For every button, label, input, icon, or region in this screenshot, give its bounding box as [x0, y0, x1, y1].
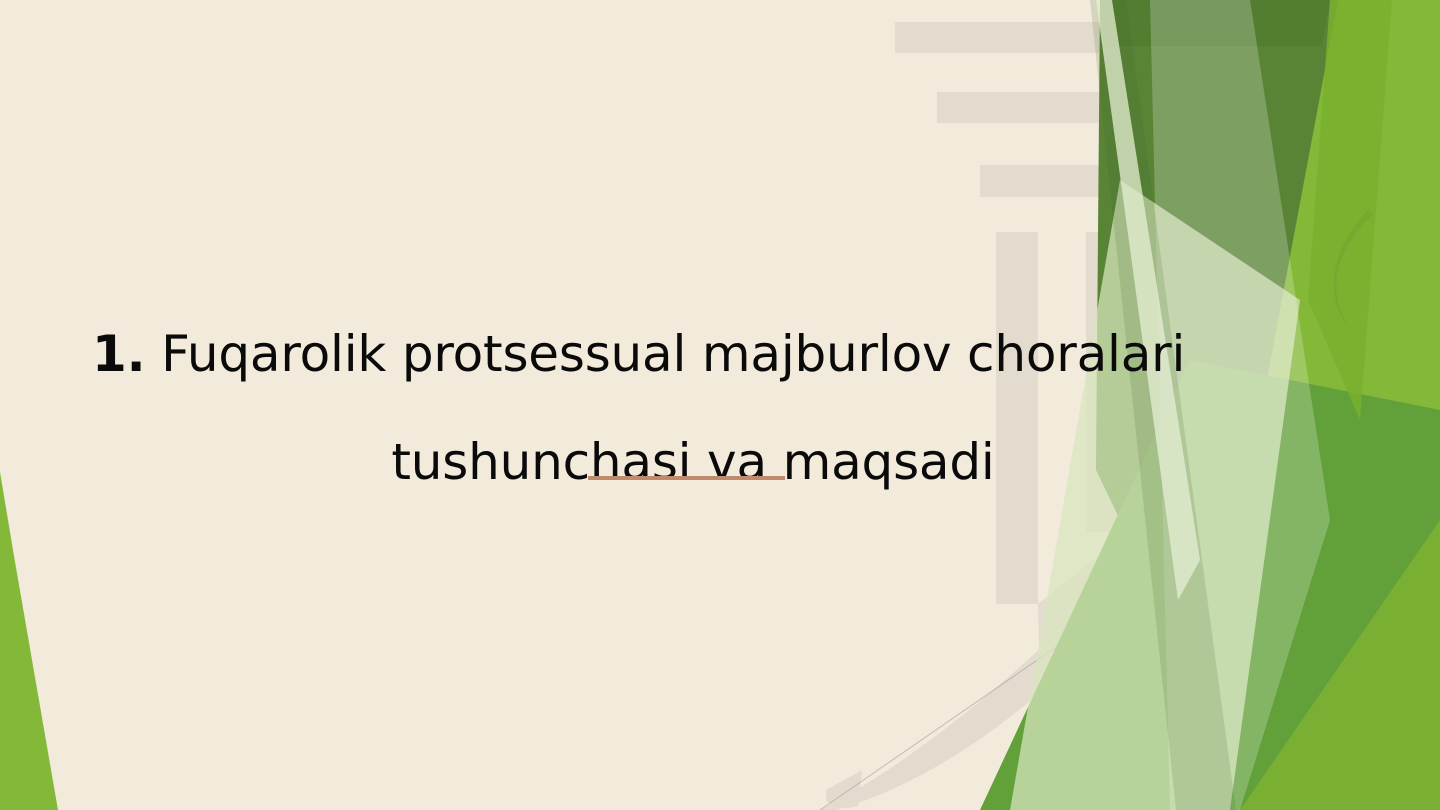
watermark-swoosh-tip — [826, 770, 862, 808]
watermark-column-foot — [1038, 532, 1128, 690]
green-arc-detail — [1334, 210, 1374, 330]
title-number: 1. — [92, 325, 145, 383]
watermark-bar-3 — [980, 165, 1242, 197]
green-corner-bottom — [1240, 520, 1440, 810]
green-top-tint — [1100, 0, 1330, 46]
title-line-1: 1. Fuqarolik protsessual majburlov chora… — [88, 300, 1298, 408]
watermark-swoosh — [820, 560, 1128, 810]
title-line-1-text: Fuqarolik protsessual majburlov choralar… — [145, 325, 1185, 383]
slide-title: 1. Fuqarolik protsessual majburlov chora… — [88, 300, 1298, 516]
watermark-bar-2 — [937, 92, 1285, 123]
title-line-2: tushunchasi va maqsadi — [88, 408, 1298, 516]
watermark-bar-1 — [895, 22, 1331, 53]
green-wedge-left — [0, 472, 58, 810]
green-sliver-bright — [1308, 0, 1392, 420]
presentation-slide: 1. Fuqarolik protsessual majburlov chora… — [0, 0, 1440, 810]
text-underline-decoration — [588, 476, 785, 480]
